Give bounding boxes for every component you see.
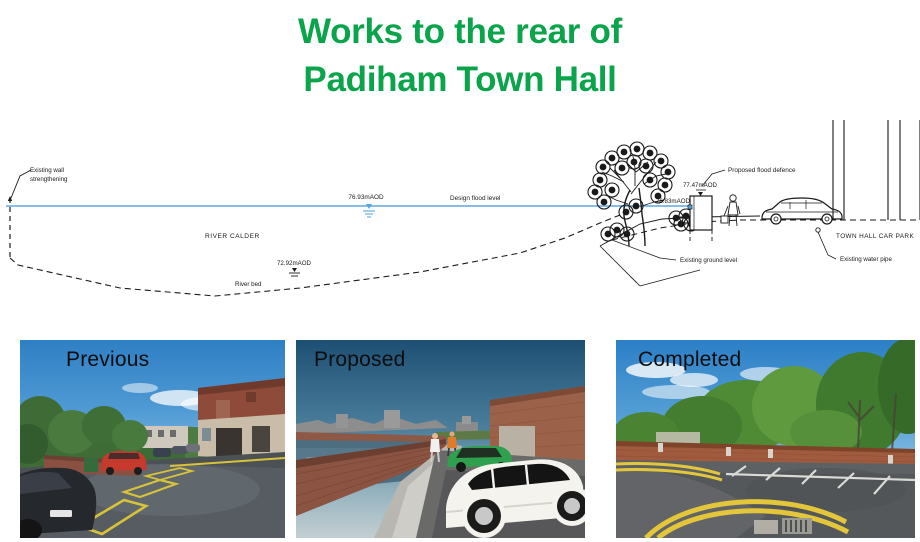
river-calder-label: RIVER CALDER [205,233,260,240]
town-hall-building [833,120,920,220]
existing-water-pipe-leader [818,232,836,259]
existing-ground-level-leader [612,240,676,260]
photo-proposed[interactable]: Proposed [296,340,585,538]
photo-previous[interactable]: Previous [20,340,285,538]
town-hall-car-park-label: TOWN HALL CAR PARK [836,233,914,240]
existing-wall-strengthening-label-line2: strengthening [30,176,68,183]
tree-illustration [588,142,703,246]
river-bed-level-symbol [289,268,300,276]
photo-previous-caption: Previous [66,348,149,372]
defence-top-level-value: 77.47mAOD [683,182,718,189]
title-line-1: Works to the rear of [0,8,920,56]
design-flood-level-value: 76.93mAOD [348,194,384,201]
photo-completed-caption: Completed [638,348,741,372]
design-flood-level-label: Design flood level [450,195,500,202]
shrub-illustration [601,209,703,241]
defence-top-level-symbol [696,190,706,196]
proposed-flood-defence-label: Proposed flood defence [728,167,796,174]
existing-ground-level-label: Existing ground level [680,257,737,264]
existing-water-pipe-label: Existing water pipe [840,256,892,263]
cross-section-drawing: 76.93mAOD Design flood level RIVER CALDE… [0,120,920,310]
photo-completed[interactable]: Completed [616,340,915,538]
proposed-flood-defence-wall [688,196,712,244]
embankment-lower-slope [600,246,640,286]
river-bed-label: River bed [235,281,262,288]
existing-wall-leader [11,170,31,198]
river-bed-level-value: 72.92mAOD [277,260,312,267]
photo-proposed-caption: Proposed [314,348,406,372]
photo-row: Previous [0,340,920,542]
defence-mid-level-value: 76.83mAOD [656,198,691,205]
slide: Works to the rear of Padiham Town Hall [0,0,920,542]
photo-previous-art [20,340,285,538]
existing-wall-strengthening-label-line1: Existing wall [30,167,64,174]
embankment-toe [640,270,700,286]
defence-water-marker [688,205,692,209]
person-illustration [721,195,740,226]
river-bed-profile [10,215,620,296]
title-line-2: Padiham Town Hall [0,56,920,104]
existing-water-pipe-marker [816,228,820,232]
page-title: Works to the rear of Padiham Town Hall [0,8,920,105]
